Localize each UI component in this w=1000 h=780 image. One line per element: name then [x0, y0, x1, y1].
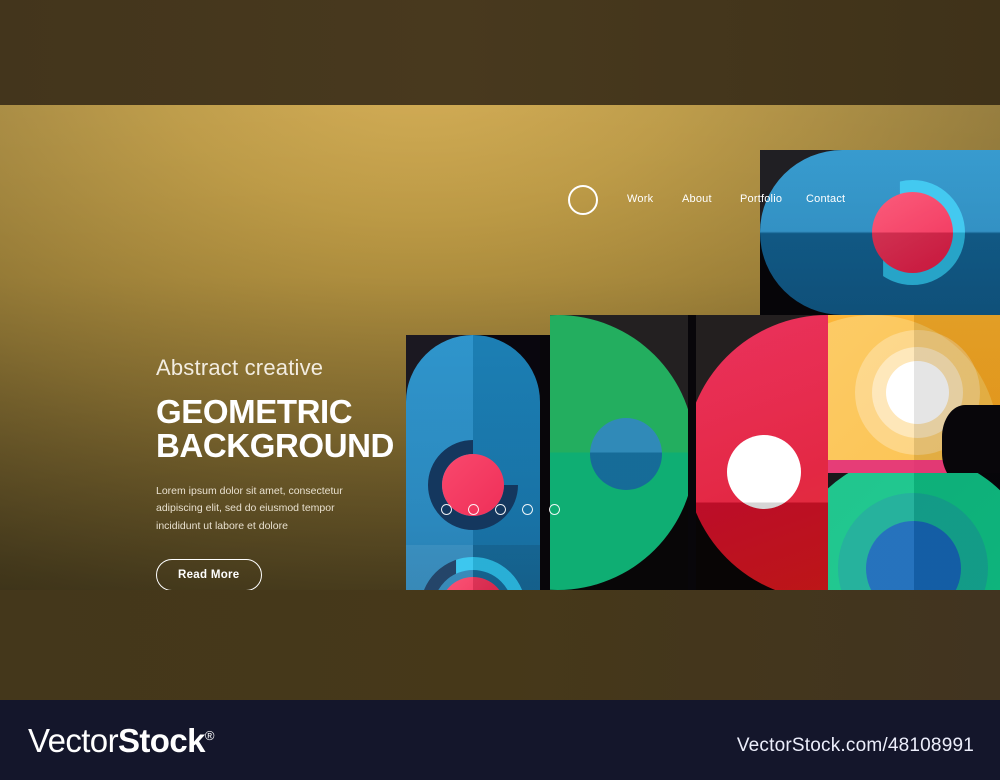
poster-artwork: Abstract creative GEOMETRIC BACKGROUND L… [0, 0, 1000, 700]
brand-bold: Stock [118, 722, 205, 759]
vectorstock-logo: VectorStock® [28, 722, 214, 760]
screenshot-root: Abstract creative GEOMETRIC BACKGROUND L… [0, 0, 1000, 780]
white-circle-on-red [727, 435, 801, 509]
carousel-dot[interactable] [441, 504, 452, 515]
poster-frame-top [0, 0, 1000, 105]
tile-teal-circle [828, 473, 1000, 590]
carousel-dot[interactable] [522, 504, 533, 515]
registered-mark-icon: ® [205, 728, 214, 743]
hero-kicker: Abstract creative [156, 355, 456, 381]
poster-frame-bottom [0, 590, 1000, 700]
tile-gutter-dark-b [688, 315, 696, 590]
hero-canvas: Abstract creative GEOMETRIC BACKGROUND L… [0, 105, 1000, 590]
carousel-dot[interactable] [468, 504, 479, 515]
page-title: GEOMETRIC BACKGROUND [156, 395, 456, 463]
logo-circle-icon[interactable] [568, 185, 598, 215]
read-more-button[interactable]: Read More [156, 559, 262, 590]
watermark-url: VectorStock.com/48108991 [737, 735, 974, 757]
page-title-line2: BACKGROUND [156, 427, 394, 464]
carousel-dots [441, 504, 560, 515]
brand-thin: Vector [28, 722, 118, 759]
nav-link-work[interactable]: Work [627, 193, 653, 205]
nav-link-about[interactable]: About [682, 193, 712, 205]
glow-core-white [886, 361, 949, 424]
nav-link-contact[interactable]: Contact [806, 193, 845, 205]
tile-green-disc [550, 315, 695, 590]
tile-gutter-dark-a [540, 335, 550, 590]
tile-red-disc [695, 315, 828, 590]
nav-link-portfolio[interactable]: Portfolio [740, 193, 782, 205]
carousel-dot[interactable] [495, 504, 506, 515]
hero-lead-text: Lorem ipsum dolor sit amet, consectetur … [156, 483, 348, 535]
hero-copy: Abstract creative GEOMETRIC BACKGROUND L… [156, 355, 456, 590]
watermark-bar: VectorStock® VectorStock.com/48108991 [0, 700, 1000, 780]
blue-circle-on-green [590, 418, 662, 490]
carousel-dot[interactable] [549, 504, 560, 515]
page-title-line1: GEOMETRIC [156, 393, 352, 430]
site-nav [0, 105, 1000, 210]
